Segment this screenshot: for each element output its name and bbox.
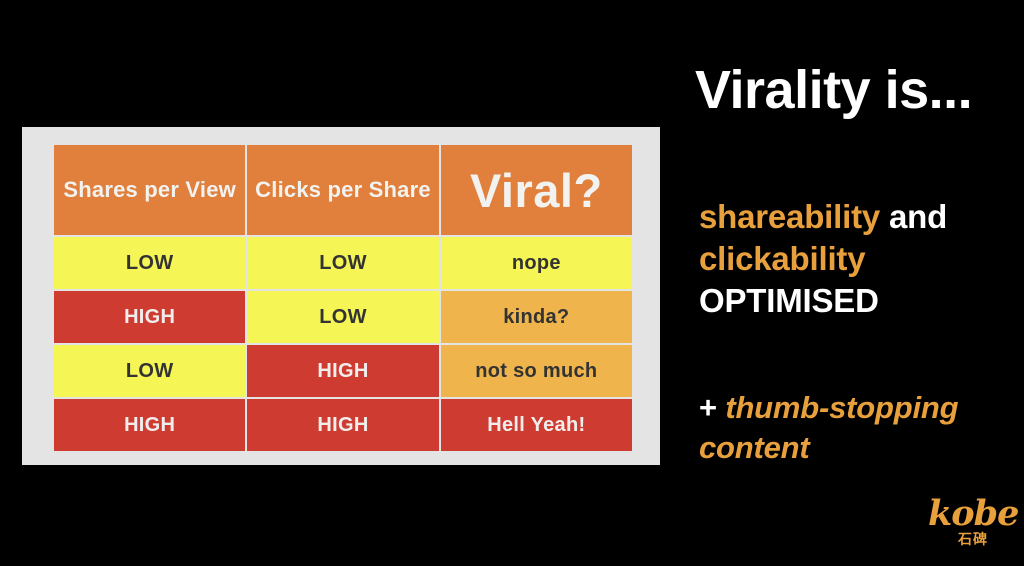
cell-clicks: HIGH <box>247 399 438 451</box>
cell-clicks: HIGH <box>247 345 438 397</box>
accent-clickability: clickability <box>699 240 865 277</box>
accent-thumb-stopping-content: thumb-stopping content <box>699 390 958 465</box>
cell-verdict: not so much <box>441 345 632 397</box>
table-row: LOW LOW nope <box>54 237 632 289</box>
text-panel: Virality is... shareability and clickabi… <box>695 0 1024 566</box>
table-row: HIGH HIGH Hell Yeah! <box>54 399 632 451</box>
table-row: LOW HIGH not so much <box>54 345 632 397</box>
cell-shares: HIGH <box>54 399 245 451</box>
cell-shares: HIGH <box>54 291 245 343</box>
viral-matrix-table: Shares per View Clicks per Share Viral? … <box>52 143 634 453</box>
kobe-logo: kobe 石碑 <box>928 496 1018 558</box>
accent-shareability: shareability <box>699 198 880 235</box>
logo-wordmark: kobe <box>928 496 1018 531</box>
extra-statement: + thumb-stopping content <box>699 388 1024 469</box>
slide-canvas: Shares per View Clicks per Share Viral? … <box>0 0 1024 566</box>
logo-cjk-characters: 石碑 <box>928 529 1018 549</box>
page-title: Virality is... <box>695 62 972 119</box>
table-body: LOW LOW nope HIGH LOW kinda? LOW HIGH no… <box>54 237 632 451</box>
table-header-row: Shares per View Clicks per Share Viral? <box>54 145 632 235</box>
column-header-clicks-per-share: Clicks per Share <box>247 145 438 235</box>
cell-verdict: Hell Yeah! <box>441 399 632 451</box>
cell-shares: LOW <box>54 237 245 289</box>
column-header-viral: Viral? <box>441 145 632 235</box>
plus-icon: + <box>699 390 717 425</box>
table-row: HIGH LOW kinda? <box>54 291 632 343</box>
cell-clicks: LOW <box>247 291 438 343</box>
cell-verdict: kinda? <box>441 291 632 343</box>
cell-clicks: LOW <box>247 237 438 289</box>
viral-table-frame: Shares per View Clicks per Share Viral? … <box>22 127 660 465</box>
body-statement: shareability and clickability OPTIMISED <box>699 196 1024 322</box>
cell-verdict: nope <box>441 237 632 289</box>
cell-shares: LOW <box>54 345 245 397</box>
conjunction-and: and <box>889 198 947 235</box>
column-header-shares-per-view: Shares per View <box>54 145 245 235</box>
label-optimised: OPTIMISED <box>699 280 1024 322</box>
